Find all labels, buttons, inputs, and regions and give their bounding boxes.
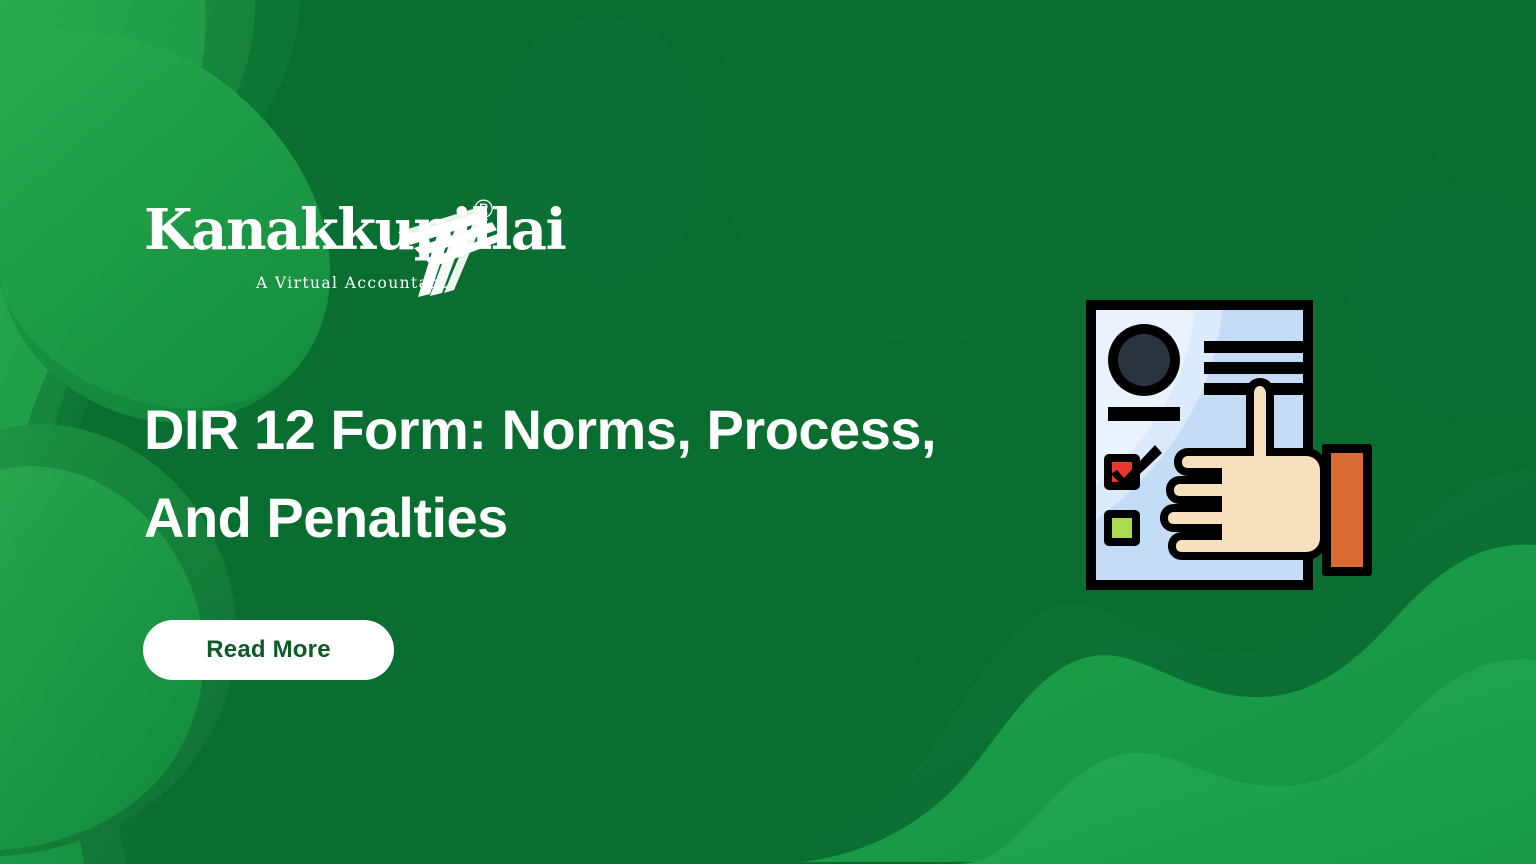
blog-promo-banner: Kanakkupillai A Virtual Accountant ® DIR… bbox=[0, 0, 1536, 864]
read-more-label: Read More bbox=[206, 636, 331, 664]
page-title: DIR 12 Form: Norms, Process, And Penalti… bbox=[144, 386, 1024, 562]
brand-logo[interactable]: Kanakkupillai A Virtual Accountant ® bbox=[144, 196, 504, 301]
sleeve-shape bbox=[1322, 444, 1372, 576]
document-approval-thumbs-up-illustration bbox=[1070, 288, 1400, 612]
registered-trademark-icon: ® bbox=[474, 196, 493, 222]
read-more-button[interactable]: Read More bbox=[143, 620, 394, 680]
checkbox-unchecked-icon bbox=[1104, 510, 1140, 546]
